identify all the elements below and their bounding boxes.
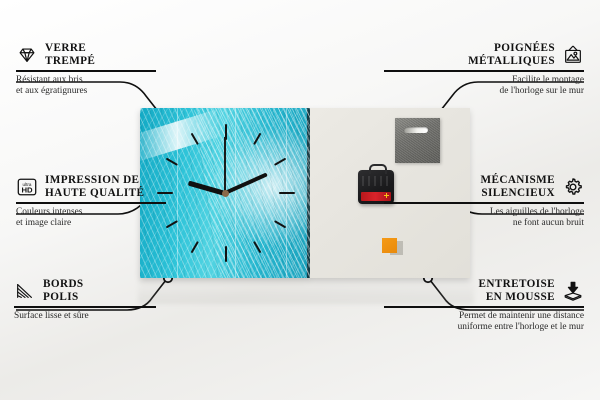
feature-sub-line1: Facilite le montage [384,75,584,86]
hour-marker [274,220,286,228]
feature-title-line2: POLIS [43,291,84,304]
svg-text:HD: HD [21,185,33,194]
diamond-icon [16,44,38,66]
hour-marker [191,241,199,253]
second-hand [224,137,226,193]
metal-hanger-plate [395,118,440,163]
feature-title-line2: EN MOUSSE [478,291,555,304]
feature-title-line1: VERRE [45,42,95,55]
feature-title-line2: TREMPÉ [45,55,95,68]
feature-sub-line1: Surface lisse et sûre [14,311,214,322]
feature-sub-line2: ne font aucun bruit [384,218,584,229]
feature-rule [16,202,166,204]
feature-title-line1: POIGNÉES [468,42,555,55]
feature-title-line1: BORDS [43,278,84,291]
feature-sub-line2: de l'horloge sur le mur [384,86,584,97]
feature-mecanisme-silencieux: MÉCANISME SILENCIEUX Les aiguilles de l'… [384,174,584,230]
feature-rule [384,202,584,204]
framed-picture-hanging-icon [562,44,584,66]
polished-edge-icon [14,280,36,302]
feature-verre-trempe: VERRE TREMPÉ Résistant aux bris et aux é… [16,42,216,98]
feature-title-line1: MÉCANISME [481,174,555,187]
feature-sub-line2: et aux égratignures [16,86,216,97]
feature-title-line2: SILENCIEUX [481,187,555,200]
feature-rule [16,70,156,72]
feature-poignees-metalliques: POIGNÉES MÉTALLIQUES Facilite le montage… [384,42,584,98]
hour-marker [274,158,286,166]
hand-cap [222,190,229,197]
infographic-canvas: VERRE TREMPÉ Résistant aux bris et aux é… [0,0,600,400]
hanging-loop [369,164,387,174]
feature-title-line1: ENTRETOISE [478,278,555,291]
feature-sub-line1: Résistant aux bris [16,75,216,86]
feature-sub-line2: uniforme entre l'horloge et le mur [384,322,584,333]
hanger-keyhole-slot [404,127,428,133]
feature-rule [384,306,584,308]
feature-sub-line1: Couleurs intenses [16,207,216,218]
feature-title-line1: IMPRESSION DE [45,174,144,187]
feature-title-line2: HAUTE QUALITÉ [45,187,144,200]
hour-marker [253,241,261,253]
feature-bords-polis: BORDS POLIS Surface lisse et sûre [14,278,214,322]
feature-rule [14,306,156,308]
feature-entretoise-en-mousse: ENTRETOISE EN MOUSSE Permet de maintenir… [384,278,584,334]
hour-marker [191,133,199,145]
feature-title-line2: MÉTALLIQUES [468,55,555,68]
gear-icon [562,176,584,198]
hour-marker [166,158,178,166]
ultra-hd-badge-icon: ultra HD [16,176,38,198]
feature-sub-line1: Permet de maintenir une distance [384,311,584,322]
foam-spacer [382,238,397,253]
hour-marker [279,192,295,194]
hour-marker [225,246,227,262]
minute-hand [224,172,268,194]
feature-impression-haute-qualite: ultra HD IMPRESSION DE HAUTE QUALITÉ Cou… [16,174,216,230]
foam-spacer-arrow-icon [562,280,584,302]
feature-sub-line1: Les aiguilles de l'horloge [384,207,584,218]
feature-rule [384,70,584,72]
hour-marker [253,133,261,145]
feature-sub-line2: et image claire [16,218,216,229]
